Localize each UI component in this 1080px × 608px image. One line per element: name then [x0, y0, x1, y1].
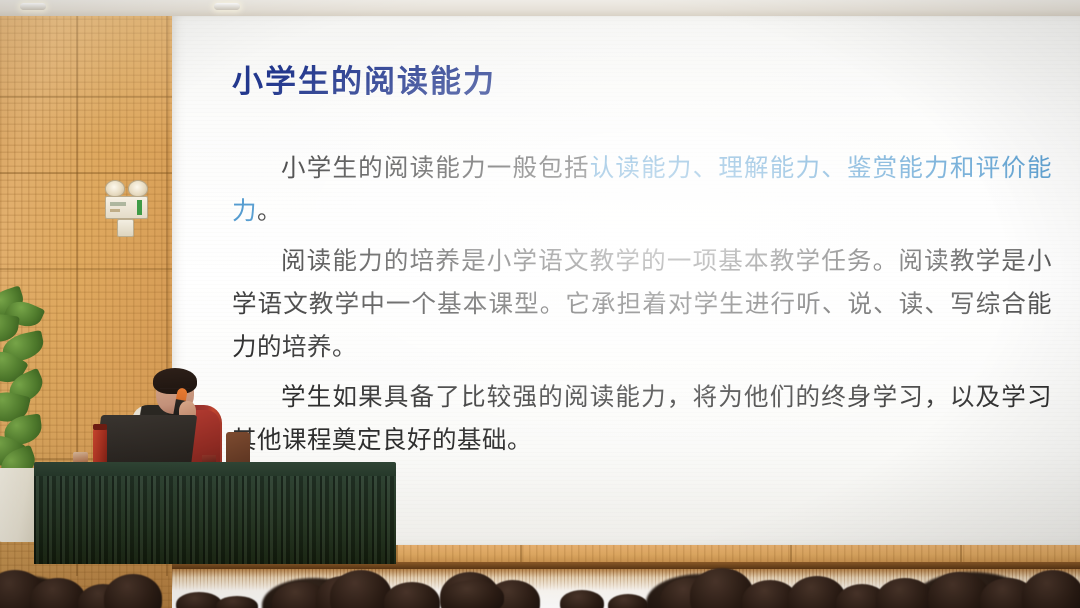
- potted-plant-foliage: [0, 288, 48, 478]
- audience-head: [1022, 570, 1080, 608]
- ceiling-light-icon: [20, 3, 46, 10]
- emergency-light-label: [110, 202, 126, 206]
- lecture-hall-photo: 小学生的阅读能力 小学生的阅读能力一般包括认读能力、理解能力、鉴赏能力和评价能力…: [0, 0, 1080, 608]
- paragraph-1-run-1: 小学生的阅读能力一般包括: [281, 155, 590, 182]
- paragraph-3-run-1: 学生如果具备了比较强的阅读能力，将为他们的终身学习，以及学习其他课程奠定良好的基…: [232, 384, 1052, 454]
- slide-content: 小学生的阅读能力 小学生的阅读能力一般包括认读能力、理解能力、鉴赏能力和评价能力…: [232, 56, 1052, 469]
- laptop-screen: [95, 415, 197, 467]
- emergency-light-icon: [104, 180, 148, 246]
- ceiling-light-icon: [214, 3, 240, 10]
- audience-head: [560, 590, 604, 608]
- wall-seam-horizontal: [0, 172, 172, 174]
- audience-head: [442, 580, 504, 608]
- slide-paragraph-2: 阅读能力的培养是小学语文教学的一项基本教学任务。阅读教学是小学语文教学中一个基本…: [232, 240, 1052, 369]
- slide-paragraph-3: 学生如果具备了比较强的阅读能力，将为他们的终身学习，以及学习其他课程奠定良好的基…: [232, 376, 1052, 462]
- emergency-lamp-head-icon: [128, 180, 148, 197]
- paragraph-2-run-1: 阅读能力的培养是小学语文教学的一项基本教学任务。阅读教学是小学语文教学中一个基本…: [232, 248, 1052, 361]
- audience-head: [384, 582, 440, 608]
- audience-head: [330, 570, 392, 608]
- wall-seam-horizontal: [0, 96, 172, 98]
- wall-seam-horizontal: [0, 268, 172, 270]
- thermos-cap: [93, 424, 107, 430]
- emergency-lamp-head-icon: [105, 180, 125, 197]
- emergency-light-switchbox: [117, 219, 134, 237]
- slide-paragraph-1: 小学生的阅读能力一般包括认读能力、理解能力、鉴赏能力和评价能力。: [232, 147, 1052, 233]
- thermos-bottle: [93, 428, 107, 466]
- emergency-indicator-icon: [137, 200, 142, 215]
- emergency-light-label: [110, 209, 120, 212]
- audience-head: [608, 594, 648, 608]
- emergency-light-body: [105, 196, 148, 219]
- slide-title: 小学生的阅读能力: [232, 56, 1052, 101]
- audience-head: [104, 574, 162, 608]
- audience-row: [0, 540, 1080, 608]
- audience-head: [216, 596, 258, 608]
- ceiling: [0, 0, 1080, 16]
- paragraph-1-run-3: 。: [257, 198, 282, 225]
